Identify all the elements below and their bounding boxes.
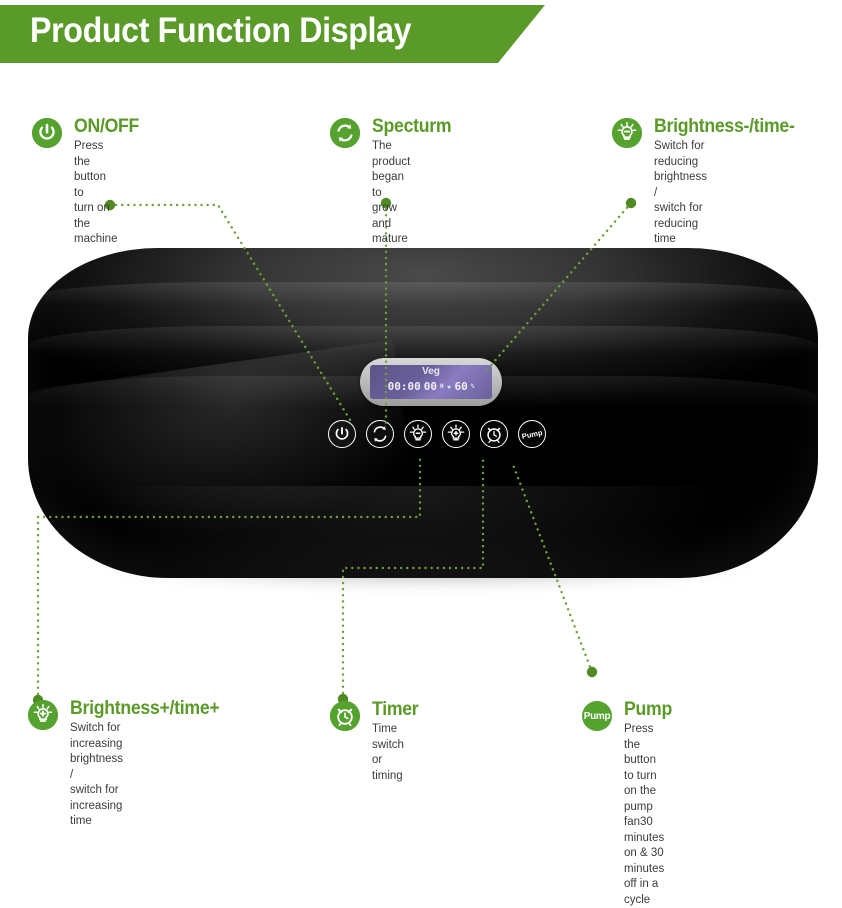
- callout-description: Press the button to turn on the pump fan…: [624, 722, 664, 908]
- lcd-readout: 00:00 00 H ★ 60 %: [370, 380, 492, 393]
- device-button-brightness-down[interactable]: [404, 420, 432, 448]
- device-body: [28, 248, 818, 578]
- callout-description: Switch for reducing brightness / switch …: [654, 139, 707, 248]
- pump-icon-label: Pump: [582, 701, 612, 731]
- device-button-timer[interactable]: [480, 420, 508, 448]
- product-device-image: Veg 00:00 00 H ★ 60 %: [28, 248, 818, 578]
- spectrum-recycle-icon: [330, 118, 360, 148]
- pump-button-label: Pump: [517, 419, 548, 450]
- callout-title: Specturm: [372, 116, 451, 138]
- lcd-brightness-value: 60: [454, 380, 467, 393]
- lcd-bulb-icon: ★: [447, 382, 452, 391]
- callout-title: Timer: [372, 699, 418, 721]
- alarm-clock-icon: [330, 701, 360, 731]
- page-title: Product Function Display: [30, 11, 411, 51]
- leader-dot-pump: [587, 667, 597, 677]
- lcd-time-value: 00:00: [388, 380, 421, 393]
- callout-description: The product began to grow and mature: [372, 139, 410, 248]
- pump-text-icon: Pump: [582, 701, 612, 731]
- callout-title: Brightness-/time-: [654, 116, 795, 138]
- alarm-clock-icon: [481, 421, 507, 447]
- callout-title: Brightness+/time+: [70, 698, 219, 720]
- device-button-brightness-up[interactable]: [442, 420, 470, 448]
- callout-title: Pump: [624, 699, 672, 721]
- callout-title: ON/OFF: [74, 116, 139, 138]
- power-icon: [329, 421, 355, 447]
- lcd-day-value: 00: [424, 380, 437, 393]
- lcd-mode-label: Veg: [370, 366, 492, 377]
- lcd-screen: Veg 00:00 00 H ★ 60 %: [370, 365, 492, 399]
- bulb-plus-icon: [443, 421, 469, 447]
- device-ridge: [28, 282, 818, 316]
- lcd-bezel: Veg 00:00 00 H ★ 60 %: [360, 358, 502, 406]
- device-button-pump[interactable]: Pump: [518, 420, 546, 448]
- device-button-row: Pump: [328, 420, 538, 450]
- bulb-minus-icon: [405, 421, 431, 447]
- leader-dot-brightness-minus: [626, 198, 636, 208]
- callout-description: Press the button to turn on the machine: [74, 139, 117, 248]
- bulb-plus-icon: [28, 700, 58, 730]
- device-button-power[interactable]: [328, 420, 356, 448]
- callout-description: Time switch or timing: [372, 722, 404, 784]
- power-icon: [32, 118, 62, 148]
- callout-description: Switch for increasing brightness / switc…: [70, 721, 123, 830]
- bulb-minus-icon: [612, 118, 642, 148]
- spectrum-recycle-icon: [367, 421, 393, 447]
- device-button-spectrum[interactable]: [366, 420, 394, 448]
- device-gloss-bottom: [88, 486, 728, 578]
- lcd-day-unit: H: [440, 383, 444, 390]
- lcd-brightness-unit: %: [471, 383, 475, 390]
- infographic-canvas: Product Function Display Veg 00:00 00 H …: [0, 0, 842, 768]
